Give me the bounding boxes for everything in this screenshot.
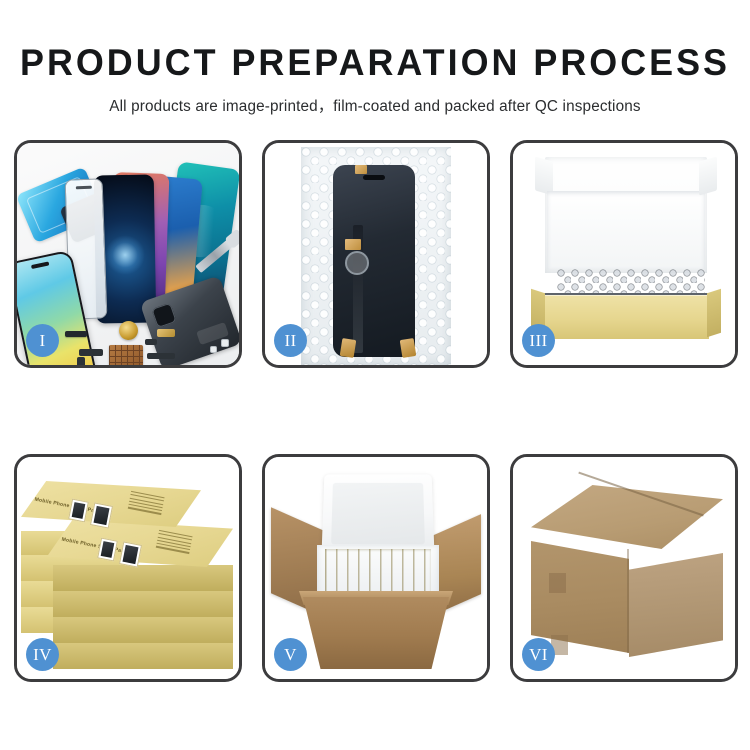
- product-preparation-infographic: PRODUCT PREPARATION PROCESS All products…: [0, 0, 750, 750]
- component-screw: [221, 339, 229, 347]
- page-subtitle: All products are image-printed，film-coat…: [0, 94, 750, 116]
- component-bar: [65, 331, 87, 337]
- carton-top-face: [531, 485, 723, 549]
- step-badge-1: I: [26, 324, 59, 357]
- gold-tape-bottom-left: [340, 338, 357, 358]
- gold-coil-component: [119, 321, 138, 340]
- process-steps-grid: I II: [14, 140, 738, 682]
- gold-tape-top: [355, 165, 367, 174]
- bubble-wrap-bag: [301, 147, 451, 365]
- kraft-boxes-inside: [325, 549, 431, 593]
- carton-front-face: [531, 541, 629, 653]
- step-badge-3: III: [522, 324, 555, 357]
- stacked-box-slab: [53, 591, 233, 617]
- step-badge-5: V: [274, 638, 307, 671]
- stacked-box-slab: [53, 565, 233, 591]
- camera-ring: [345, 251, 369, 275]
- styrofoam-lid: [322, 474, 435, 553]
- step-card-printed-boxes: Mobile Phone Spare Parts Mobile Phone Sp…: [14, 454, 242, 682]
- stacked-box-slab: [53, 643, 233, 669]
- component-screw-2: [210, 346, 217, 353]
- stacked-box-slab: [53, 617, 233, 643]
- carton-body: [303, 597, 449, 669]
- component-flex-small: [145, 339, 157, 345]
- step-badge-6: VI: [522, 638, 555, 671]
- component-flex-vertical: [77, 357, 85, 368]
- component-gold-contact: [141, 365, 151, 368]
- tape-seal-upper: [549, 573, 566, 593]
- step-card-foam-carton: V: [262, 454, 490, 682]
- yellow-kraft-box-body: [543, 295, 709, 339]
- component-flex-bracket: [79, 349, 103, 356]
- step-card-inner-box: III: [510, 140, 738, 368]
- component-bracket: [103, 365, 117, 368]
- step-badge-4: IV: [26, 638, 59, 671]
- carton-right-face: [629, 553, 723, 657]
- step-card-sealed-carton: VI: [510, 454, 738, 682]
- white-foam-lid: [545, 157, 707, 273]
- step-card-phone-parts: I: [14, 140, 242, 368]
- step-badge-2: II: [274, 324, 307, 357]
- carton-vertical-edge: [627, 549, 629, 653]
- box-phone-image: [119, 541, 142, 567]
- page-title: PRODUCT PREPARATION PROCESS: [11, 44, 739, 81]
- component-gold-flex: [157, 329, 175, 337]
- gold-tape-middle: [345, 239, 361, 250]
- infographic-header: PRODUCT PREPARATION PROCESS All products…: [0, 0, 750, 116]
- component-ribbon-cable: [147, 353, 175, 359]
- lid-foam-panel: [547, 191, 705, 269]
- gold-tape-bottom-right: [400, 338, 417, 358]
- step-card-bubble-wrap: II: [262, 140, 490, 368]
